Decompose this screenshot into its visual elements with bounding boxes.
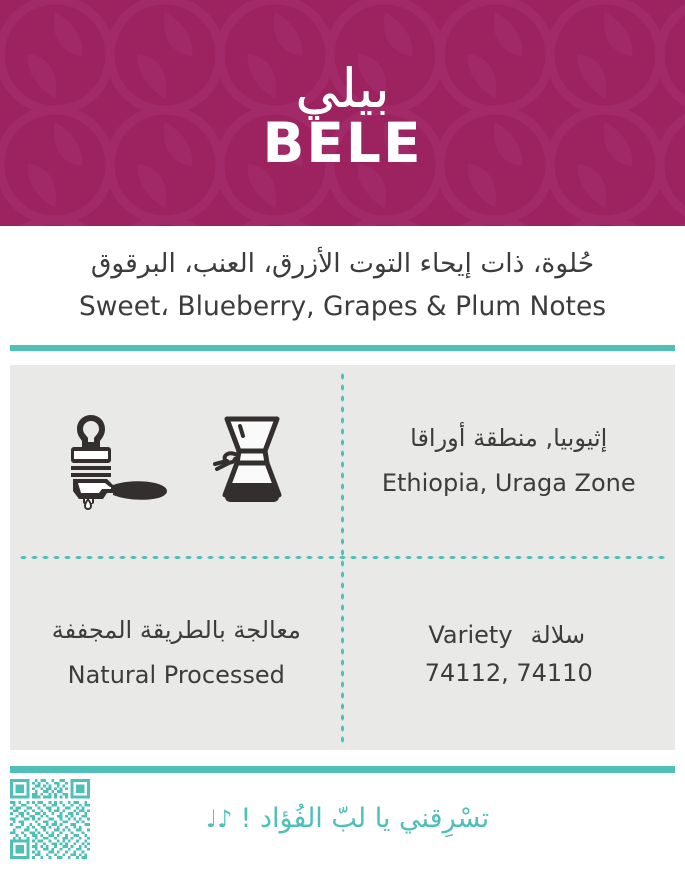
brand-name-english: BELE: [262, 116, 422, 171]
label-footer: تسْرِقني يا لبّ الفُؤاد !♪♩: [0, 766, 685, 874]
coffee-label-card: بيلي BELE حُلوة، ذات إيحاء التوت الأزرق،…: [0, 0, 685, 874]
dotted-divider-horizontal: [18, 555, 667, 560]
process-english: Natural Processed: [68, 658, 285, 693]
music-note-icon: ♪♩: [206, 805, 233, 833]
variety-label-arabic: سلالة: [531, 621, 586, 649]
variety-values: 74112, 74110: [425, 659, 593, 687]
origin-english: Ethiopia, Uraga Zone: [382, 466, 636, 501]
origin-cell: إثيوبيا, منطقة أوراقا Ethiopia, Uraga Zo…: [343, 365, 676, 558]
process-cell: معالجة بالطريقة المجففة Natural Processe…: [10, 557, 343, 750]
info-panel: إثيوبيا, منطقة أوراقا Ethiopia, Uraga Zo…: [10, 365, 675, 750]
variety-label: Varietyسلالة: [428, 621, 589, 649]
espresso-tamper-portafilter-icon: [57, 411, 173, 511]
origin-arabic: إثيوبيا, منطقة أوراقا: [410, 422, 607, 456]
tasting-notes-arabic: حُلوة، ذات إيحاء التوت الأزرق، العنب، ال…: [14, 246, 671, 282]
tasting-notes-english: Sweet، Blueberry, Grapes & Plum Notes: [14, 288, 671, 325]
tasting-notes-section: حُلوة، ذات إيحاء التوت الأزرق، العنب، ال…: [0, 226, 685, 333]
teal-divider-top: [10, 345, 675, 351]
teal-divider-bottom: [10, 766, 675, 773]
chemex-pourover-icon: [209, 411, 295, 511]
tagline-text: تسْرِقني يا لبّ الفُؤاد !: [241, 803, 490, 834]
process-arabic: معالجة بالطريقة المجففة: [52, 614, 301, 648]
brew-methods-cell: [10, 365, 343, 558]
variety-cell: Varietyسلالة 74112, 74110: [343, 557, 676, 750]
brand-name-arabic: بيلي: [295, 63, 389, 115]
qr-code[interactable]: [10, 779, 90, 859]
variety-label-english: Variety: [428, 621, 512, 649]
label-header: بيلي BELE: [0, 0, 685, 226]
tagline-arabic: تسْرِقني يا لبّ الفُؤاد !♪♩: [206, 803, 489, 834]
